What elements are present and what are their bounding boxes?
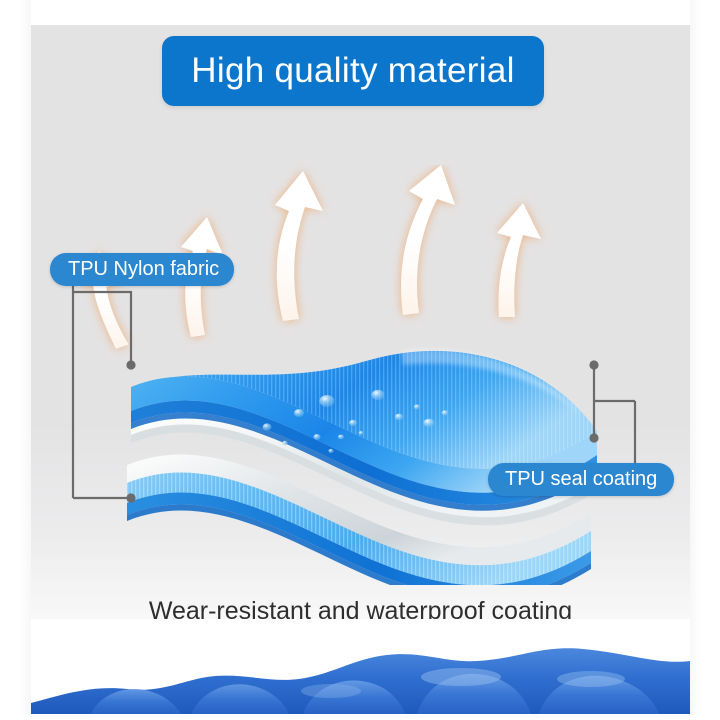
infographic-root: High quality material (0, 0, 720, 720)
title-banner: High quality material (162, 36, 544, 106)
fabric-layer-illustration (31, 165, 690, 585)
label-tpu-seal-coating: TPU seal coating (488, 463, 674, 496)
leader-dot-bottom-right (589, 433, 598, 442)
wood-texture-corner-right (690, 0, 720, 25)
wood-texture-corner-left (0, 0, 31, 25)
leader-dot-bottom-left (126, 493, 135, 502)
frame-right (690, 0, 720, 720)
frame-left (0, 0, 31, 720)
label-tpu-nylon-fabric: TPU Nylon fabric (50, 253, 234, 286)
frame-top (31, 0, 690, 25)
banner-title: High quality material (191, 51, 514, 91)
label-tpu-nylon-fabric-text: TPU Nylon fabric (68, 258, 219, 281)
label-tpu-seal-coating-text: TPU seal coating (505, 468, 657, 491)
product-photo-inflatable-pad (31, 619, 690, 714)
leader-dot-top-right (589, 360, 598, 369)
leader-dot-top-left (126, 360, 135, 369)
frame-bottom (0, 714, 720, 720)
content-panel: High quality material (31, 25, 690, 714)
